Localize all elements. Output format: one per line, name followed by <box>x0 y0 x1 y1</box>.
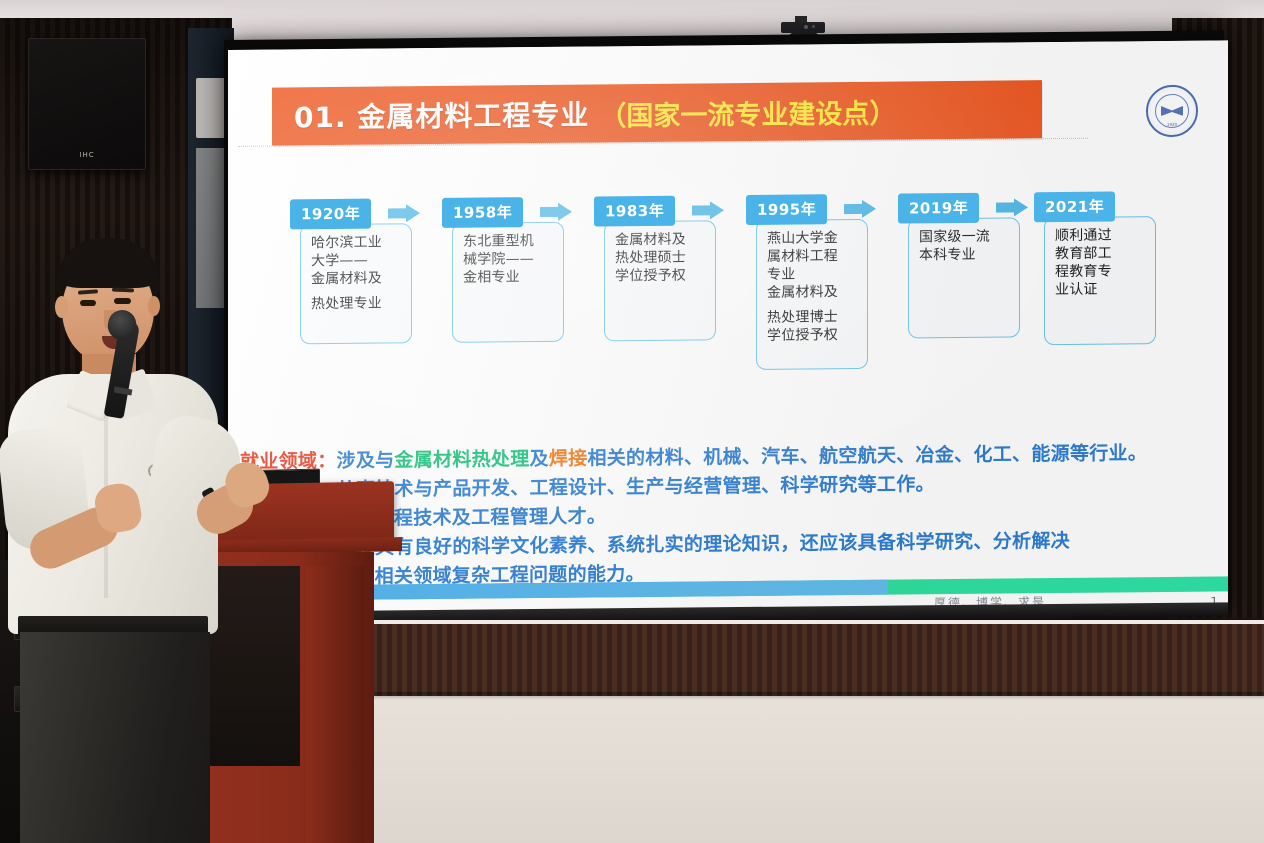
timeline-year-chip: 1983年 <box>594 196 675 227</box>
timeline-arrow-icon <box>388 204 420 222</box>
paragraph-text-segment: 金属材料热处理 <box>394 448 529 471</box>
timeline-detail-line: 学位授予权 <box>615 267 707 286</box>
paragraph-text-segment: 不仅具有良好的科学文化素养、系统扎实的理论知识，还应该具备科学研究、分析解决 <box>337 530 1070 559</box>
paragraph-text-segment: 相关的材料、机械、汽车、航空航天、冶金、化工、能源等行业。 <box>587 442 1147 469</box>
open-book-icon <box>1161 106 1183 116</box>
university-seal-logo: 1920 <box>1146 85 1198 137</box>
presenter-brow-right <box>112 288 134 293</box>
timeline-detail-line: 燕山大学金 <box>767 230 859 249</box>
paragraph-text-segment: 涉及与 <box>337 449 395 472</box>
paragraph-text-segment: 从事技术与产品开发、工程设计、生产与经营管理、科学研究等工作。 <box>337 473 935 501</box>
podium-right-column <box>306 566 364 843</box>
wall-speaker: IHC <box>28 38 146 170</box>
timeline-detail-line: 哈尔滨工业 <box>311 234 403 253</box>
timeline-arrow-icon <box>692 201 724 219</box>
paragraph-text-segment: 及 <box>530 448 549 470</box>
timeline-detail-line: 金属材料及 <box>615 231 707 250</box>
timeline-detail-line: 热处理博士 <box>767 309 859 328</box>
timeline-detail-box: 金属材料及热处理硕士学位授予权 <box>604 220 716 341</box>
timeline-year-chip: 2019年 <box>898 193 979 224</box>
timeline-detail-line: 顺利通过 <box>1055 227 1147 246</box>
presenter-ear-right <box>148 296 160 316</box>
presenter-eye-right <box>114 298 131 304</box>
timeline-detail-line: 金属材料及 <box>311 270 403 289</box>
timeline-detail-line: 本科专业 <box>919 246 1011 265</box>
wainscot-shadow <box>232 692 1264 700</box>
timeline-detail-line: 学位授予权 <box>767 326 859 345</box>
presenter-hair-front <box>58 250 158 288</box>
timeline-detail-line: 金属材料及 <box>767 284 859 303</box>
presenter-eye-left <box>80 300 96 306</box>
timeline-year-chip: 1995年 <box>746 194 827 225</box>
presenter-ear-left <box>55 296 68 318</box>
timeline-arrow-icon <box>844 200 876 218</box>
timeline-detail-line: 械学院—— <box>463 251 555 270</box>
camera-indicator-icon <box>804 25 808 29</box>
speaker-brand-label: IHC <box>29 151 145 159</box>
timeline-detail-line: 专业 <box>767 266 859 285</box>
timeline-detail-line: 国家级一流 <box>919 228 1011 247</box>
slide-title-subtitle: （国家一流专业建设点） <box>599 91 896 133</box>
timeline-detail-line: 程教育专 <box>1055 263 1147 282</box>
slide-title-main: 01. 金属材料工程专业 <box>294 94 589 137</box>
timeline-detail-box: 顺利通过教育部工程教育专业认证 <box>1044 216 1156 345</box>
paragraph-text-segment: 焊接 <box>549 448 588 470</box>
wainscot-panel <box>232 624 1264 696</box>
camera-indicator-secondary-icon <box>812 25 815 28</box>
timeline-detail-line: 大学—— <box>311 252 403 271</box>
presenter-trousers <box>20 632 210 843</box>
timeline-detail-line: 业认证 <box>1055 281 1147 300</box>
timeline-detail-box: 哈尔滨工业大学——金属材料及热处理专业 <box>300 223 412 344</box>
timeline-year-chip: 1920年 <box>290 199 371 230</box>
timeline-item: 2021年顺利通过教育部工程教育专业认证 <box>1034 191 1156 345</box>
slide-title-bar: 01. 金属材料工程专业 （国家一流专业建设点） <box>272 80 1042 145</box>
timeline-detail-line: 金相专业 <box>463 269 555 288</box>
timeline-detail-line: 东北重型机 <box>463 233 555 252</box>
timeline-detail-box: 国家级一流本科专业 <box>908 217 1020 338</box>
camera-base <box>781 22 825 33</box>
timeline-detail-line: 教育部工 <box>1055 245 1147 264</box>
timeline-detail-box: 东北重型机械学院——金相专业 <box>452 222 564 343</box>
timeline-detail-box: 燕山大学金属材料工程专业金属材料及热处理博士学位授予权 <box>756 219 868 370</box>
presenter <box>0 238 270 843</box>
timeline-detail-line: 热处理硕士 <box>615 249 707 268</box>
timeline-group: 1920年哈尔滨工业大学——金属材料及热处理专业1958年东北重型机械学院——金… <box>290 191 1180 400</box>
seal-year-label: 1920 <box>1156 122 1188 127</box>
timeline-year-chip: 1958年 <box>442 197 523 228</box>
timeline-year-chip: 2021年 <box>1034 191 1115 222</box>
timeline-arrow-icon <box>996 198 1028 216</box>
lecture-hall-photo: IHC 01. 金属材料工程专业 （国家一流专业建设点） 1920 1920年哈… <box>0 0 1264 843</box>
seal-inner-ring: 1920 <box>1155 94 1189 128</box>
timeline-detail-line: 属材料工程 <box>767 248 859 267</box>
timeline-detail-line: 热处理专业 <box>311 295 403 314</box>
timeline-item: 1995年燕山大学金属材料工程专业金属材料及热处理博士学位授予权 <box>746 194 868 370</box>
timeline-arrow-icon <box>540 203 572 221</box>
